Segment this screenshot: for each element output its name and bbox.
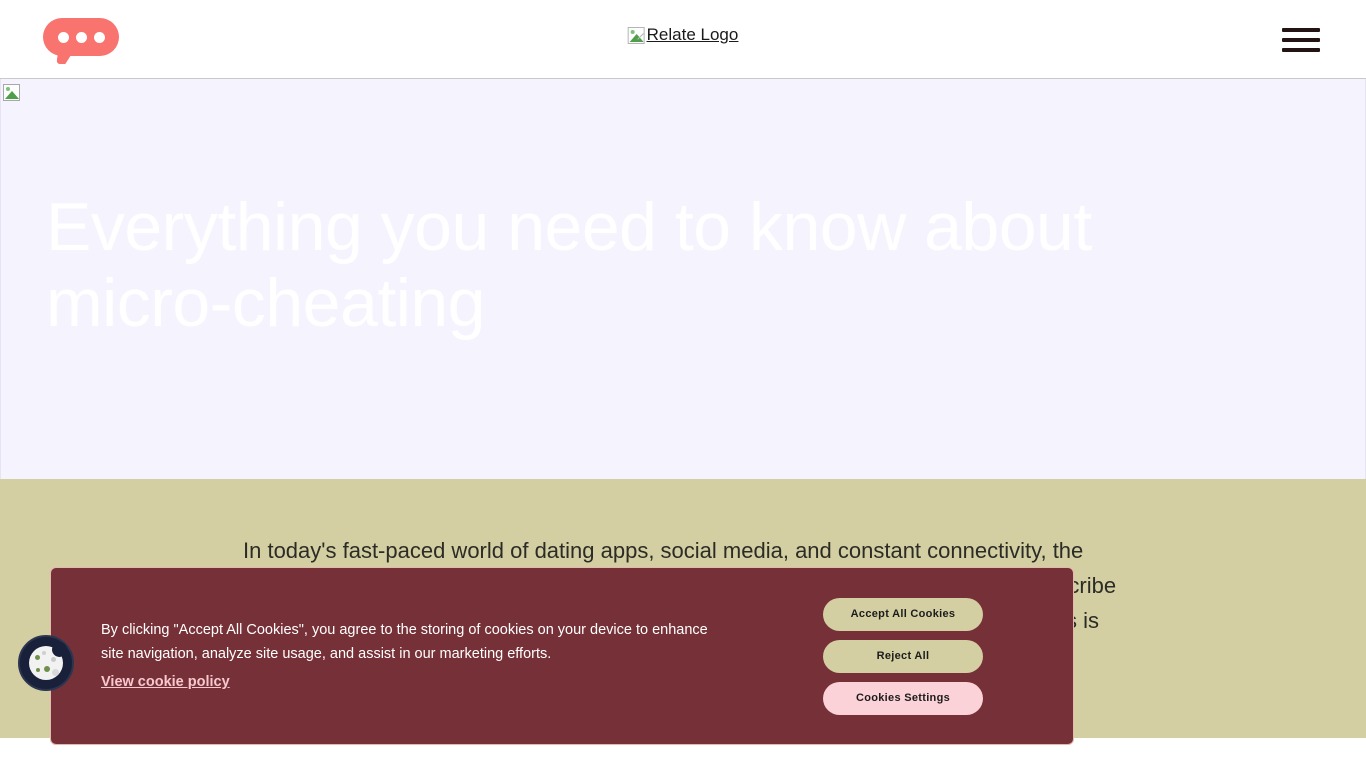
reject-all-button[interactable]: Reject All bbox=[823, 640, 983, 673]
cookie-banner-text: By clicking "Accept All Cookies", you ag… bbox=[51, 618, 743, 694]
hero-banner: Everything you need to know about micro-… bbox=[0, 79, 1366, 479]
logo-dots bbox=[43, 18, 119, 56]
cookie-preferences-button[interactable] bbox=[18, 635, 74, 691]
view-cookie-policy-link[interactable]: View cookie policy bbox=[101, 670, 230, 694]
cookie-banner-actions: Accept All Cookies Reject All Cookies Se… bbox=[743, 598, 1073, 715]
hamburger-bar-3 bbox=[1282, 48, 1320, 52]
logo-dot-1 bbox=[58, 32, 69, 43]
accept-all-cookies-button[interactable]: Accept All Cookies bbox=[823, 598, 983, 631]
page-root: Relate Logo Everything you need to know … bbox=[0, 0, 1366, 768]
page-title: Everything you need to know about micro-… bbox=[46, 189, 1196, 341]
site-header: Relate Logo bbox=[0, 0, 1366, 79]
brand-logo-link[interactable]: Relate Logo bbox=[628, 26, 739, 45]
hero-broken-image-icon bbox=[3, 84, 20, 101]
cookie-banner-message: By clicking "Accept All Cookies", you ag… bbox=[101, 618, 723, 666]
cookie-icon bbox=[29, 646, 63, 680]
cookies-settings-button[interactable]: Cookies Settings bbox=[823, 682, 983, 715]
logo-dot-2 bbox=[76, 32, 87, 43]
broken-image-icon bbox=[628, 27, 645, 44]
brand-alt-text: Relate Logo bbox=[647, 26, 739, 45]
hamburger-menu-icon[interactable] bbox=[1282, 26, 1320, 54]
logo-dot-3 bbox=[94, 32, 105, 43]
hamburger-bar-1 bbox=[1282, 28, 1320, 32]
hamburger-bar-2 bbox=[1282, 38, 1320, 42]
cookie-consent-banner: By clicking "Accept All Cookies", you ag… bbox=[50, 567, 1074, 745]
chat-bubble-logo-icon[interactable] bbox=[43, 18, 119, 56]
